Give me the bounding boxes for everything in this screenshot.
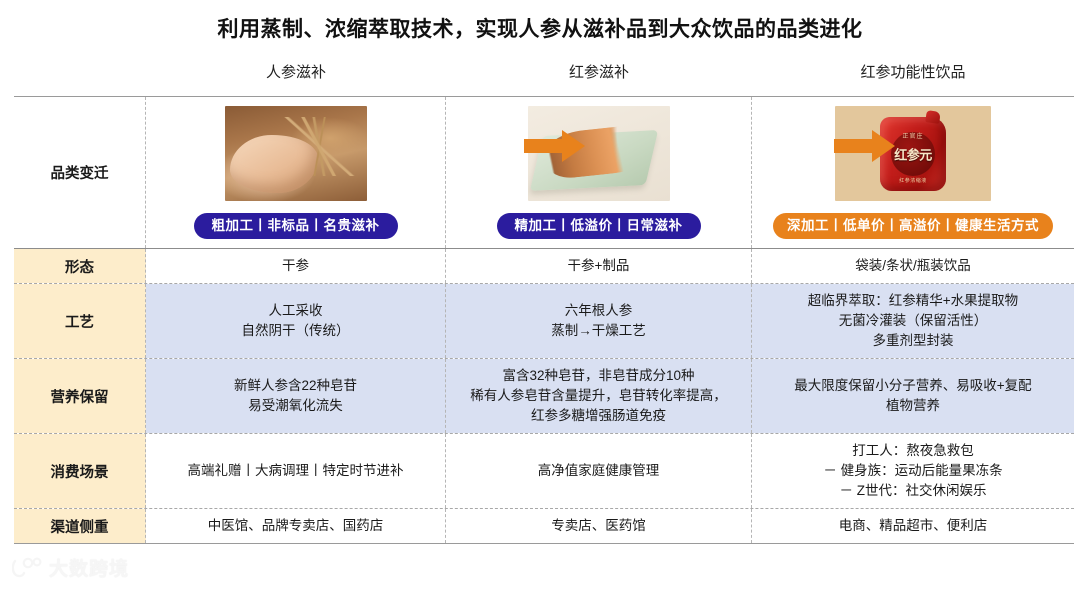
cell-line: 富含32种皂苷，非皂苷成分10种	[502, 366, 694, 386]
table-cell: 专卖店、医药馆	[446, 509, 752, 543]
cell-line: 干参+制品	[568, 256, 630, 276]
row-label: 营养保留	[14, 359, 146, 433]
table-cell: 袋装/条状/瓶装饮品	[752, 249, 1074, 283]
evolution-cell-2: 精加工丨低溢价丨日常滋补	[446, 97, 752, 248]
evolution-cell-3: 正官庄 红参元 红参浓缩液 深加工丨低单价丨高溢价丨健康生活方式	[752, 97, 1074, 248]
arrow-right-icon-2	[834, 129, 896, 163]
badge-wrap-1: 粗加工丨非标品丨名贵滋补	[152, 213, 439, 239]
dashukuajing-logo-icon	[12, 557, 42, 579]
cell-line: 高净值家庭健康管理	[538, 461, 660, 481]
row-label-evolution: 品类变迁	[14, 97, 146, 248]
table-cell: 干参	[146, 249, 446, 283]
cell-line: 植物营养	[886, 396, 940, 416]
column-header-2: 红参滋补	[446, 62, 752, 84]
cell-line: 红参多糖增强肠道免疫	[531, 406, 666, 426]
table-cell: 电商、精品超市、便利店	[752, 509, 1074, 543]
page-title: 利用蒸制、浓缩萃取技术，实现人参从滋补品到大众饮品的品类进化	[0, 0, 1080, 45]
row-label: 形态	[14, 249, 146, 283]
cell-line: 易受潮氧化流失	[248, 396, 343, 416]
cell-line: － 健身族：运动后能量果冻条	[823, 461, 1002, 481]
table-cell: 超临界萃取：红参精华+水果提取物无菌冷灌装（保留活性）多重剂型封装	[752, 284, 1074, 358]
table-row: 消费场景高端礼赠丨大病调理丨特定时节进补高净值家庭健康管理打工人：熬夜急救包－ …	[14, 433, 1074, 508]
table-cell: 打工人：熬夜急救包－ 健身族：运动后能量果冻条－ Z世代：社交休闲娱乐	[752, 434, 1074, 508]
fresh-ginseng-in-hand-image	[225, 106, 367, 201]
table-cell: 富含32种皂苷，非皂苷成分10种稀有人参皂苷含量提升，皂苷转化率提高，红参多糖增…	[446, 359, 752, 433]
pouch-product-name: 红参元	[894, 144, 932, 163]
cell-line: 多重剂型封装	[873, 331, 954, 351]
row-label: 工艺	[14, 284, 146, 358]
stage-badge-2: 精加工丨低溢价丨日常滋补	[497, 213, 701, 239]
cell-line: 袋装/条状/瓶装饮品	[855, 256, 971, 276]
table-cell: 最大限度保留小分子营养、易吸收+复配植物营养	[752, 359, 1074, 433]
table-cell: 干参+制品	[446, 249, 752, 283]
column-headers: 人参滋补 红参滋补 红参功能性饮品	[146, 62, 1074, 84]
cell-line: 稀有人参皂苷含量提升，皂苷转化率提高，	[470, 386, 727, 406]
category-evolution-table: 品类变迁 粗加工丨非标品丨名贵滋补 精加工丨低溢价丨日常滋补 正官庄	[14, 96, 1074, 544]
table-row: 营养保留新鲜人参含22种皂苷易受潮氧化流失富含32种皂苷，非皂苷成分10种稀有人…	[14, 358, 1074, 433]
cell-line: 无菌冷灌装（保留活性）	[839, 311, 988, 331]
row-label: 消费场景	[14, 434, 146, 508]
pouch-subtext: 红参浓缩液	[899, 177, 927, 184]
table-row: 工艺人工采收自然阴干（传统）六年根人参蒸制→干燥工艺超临界萃取：红参精华+水果提…	[14, 283, 1074, 358]
stage-badge-3: 深加工丨低单价丨高溢价丨健康生活方式	[773, 213, 1053, 239]
cell-line: 自然阴干（传统）	[242, 321, 350, 341]
watermark: 大数跨境	[12, 554, 129, 581]
cell-line: 高端礼赠丨大病调理丨特定时节进补	[188, 461, 404, 481]
badge-wrap-2: 精加工丨低溢价丨日常滋补	[452, 213, 745, 239]
table-cell: 中医馆、品牌专卖店、国药店	[146, 509, 446, 543]
table-cell: 高端礼赠丨大病调理丨特定时节进补	[146, 434, 446, 508]
watermark-text: 大数跨境	[49, 554, 129, 581]
table-cell: 人工采收自然阴干（传统）	[146, 284, 446, 358]
evolution-cell-1: 粗加工丨非标品丨名贵滋补	[146, 97, 446, 248]
column-header-1: 人参滋补	[146, 62, 446, 84]
cell-line: － Z世代：社交休闲娱乐	[840, 481, 987, 501]
cell-line: 专卖店、医药馆	[551, 516, 646, 536]
cell-line: 电商、精品超市、便利店	[839, 516, 988, 536]
table-cell: 六年根人参蒸制→干燥工艺	[446, 284, 752, 358]
arrow-right-icon-1	[524, 129, 586, 163]
cell-line: 中医馆、品牌专卖店、国药店	[208, 516, 384, 536]
cell-line: 干参	[282, 256, 309, 276]
cell-line: 新鲜人参含22种皂苷	[234, 376, 357, 396]
cell-line: 打工人：熬夜急救包	[852, 441, 974, 461]
cell-line: 最大限度保留小分子营养、易吸收+复配	[794, 376, 1031, 396]
table-cell: 高净值家庭健康管理	[446, 434, 752, 508]
cell-line: 超临界萃取：红参精华+水果提取物	[808, 291, 1018, 311]
table-body: 形态干参干参+制品袋装/条状/瓶装饮品工艺人工采收自然阴干（传统）六年根人参蒸制…	[14, 248, 1074, 543]
pouch-brand-text: 正官庄	[902, 131, 923, 140]
table-cell: 新鲜人参含22种皂苷易受潮氧化流失	[146, 359, 446, 433]
stage-badge-1: 粗加工丨非标品丨名贵滋补	[194, 213, 398, 239]
badge-wrap-3: 深加工丨低单价丨高溢价丨健康生活方式	[758, 213, 1068, 239]
cell-line: 六年根人参	[565, 301, 633, 321]
row-label: 渠道侧重	[14, 509, 146, 543]
cell-line: 人工采收	[269, 301, 323, 321]
column-header-3: 红参功能性饮品	[752, 62, 1074, 84]
table-row: 形态干参干参+制品袋装/条状/瓶装饮品	[14, 248, 1074, 283]
table-row: 渠道侧重中医馆、品牌专卖店、国药店专卖店、医药馆电商、精品超市、便利店	[14, 508, 1074, 543]
cell-line: 蒸制→干燥工艺	[551, 321, 646, 341]
table-row-evolution: 品类变迁 粗加工丨非标品丨名贵滋补 精加工丨低溢价丨日常滋补 正官庄	[14, 97, 1074, 248]
